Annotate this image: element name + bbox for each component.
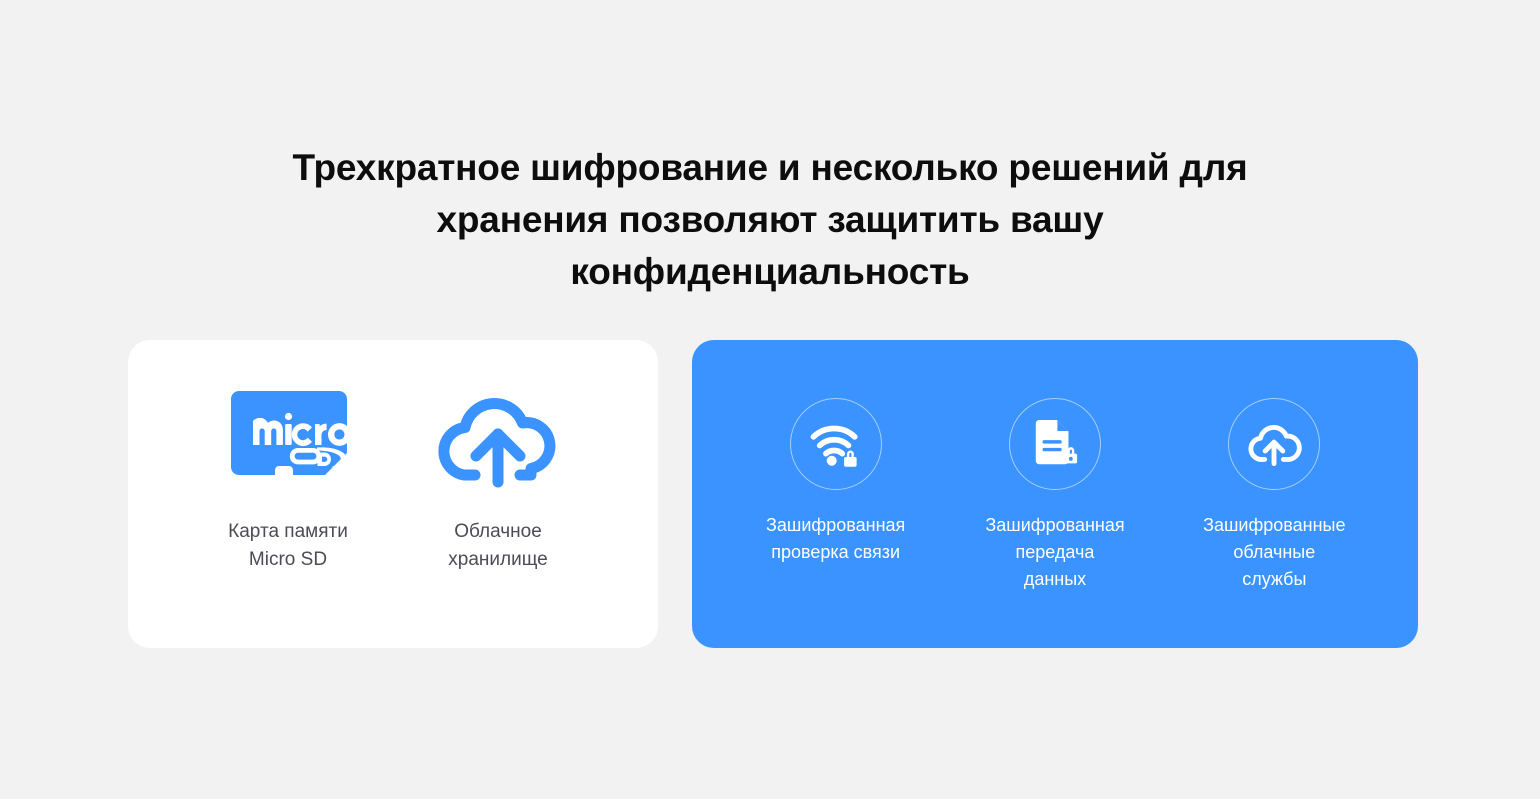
microsd-card-icon (221, 388, 355, 492)
page-title: Трехкратное шифрование и несколько решен… (265, 142, 1275, 298)
encryption-item-transfer: Зашифрованная передача данных (947, 398, 1162, 593)
encryption-item-cloud: Зашифрованные облачные службы (1167, 398, 1382, 593)
cloud-upload-icon (434, 388, 562, 492)
cards-row: Карта памяти Micro SD Облачное хранилище (128, 340, 1418, 648)
icon-circle (790, 398, 882, 490)
storage-item-label: Облачное хранилище (448, 518, 547, 574)
document-lock-icon (1030, 419, 1080, 469)
encryption-item-label: Зашифрованная передача данных (985, 512, 1124, 593)
storage-item-cloud: Облачное хранилище (393, 388, 603, 574)
storage-item-label: Карта памяти Micro SD (228, 518, 348, 574)
icon-circle (1009, 398, 1101, 490)
cloud-upload-circle-icon (1246, 421, 1302, 468)
marketing-feature-section: Трехкратное шифрование и несколько решен… (0, 0, 1540, 799)
encryption-item-label: Зашифрованные облачные службы (1203, 512, 1345, 593)
wifi-lock-icon (809, 421, 863, 467)
icon-circle (1228, 398, 1320, 490)
encryption-item-label: Зашифрованная проверка связи (766, 512, 905, 566)
storage-item-microsd: Карта памяти Micro SD (183, 388, 393, 574)
storage-options-card: Карта памяти Micro SD Облачное хранилище (128, 340, 658, 648)
encryption-item-connection: Зашифрованная проверка связи (728, 398, 943, 566)
encryption-features-card: Зашифрованная проверка связи (692, 340, 1418, 648)
